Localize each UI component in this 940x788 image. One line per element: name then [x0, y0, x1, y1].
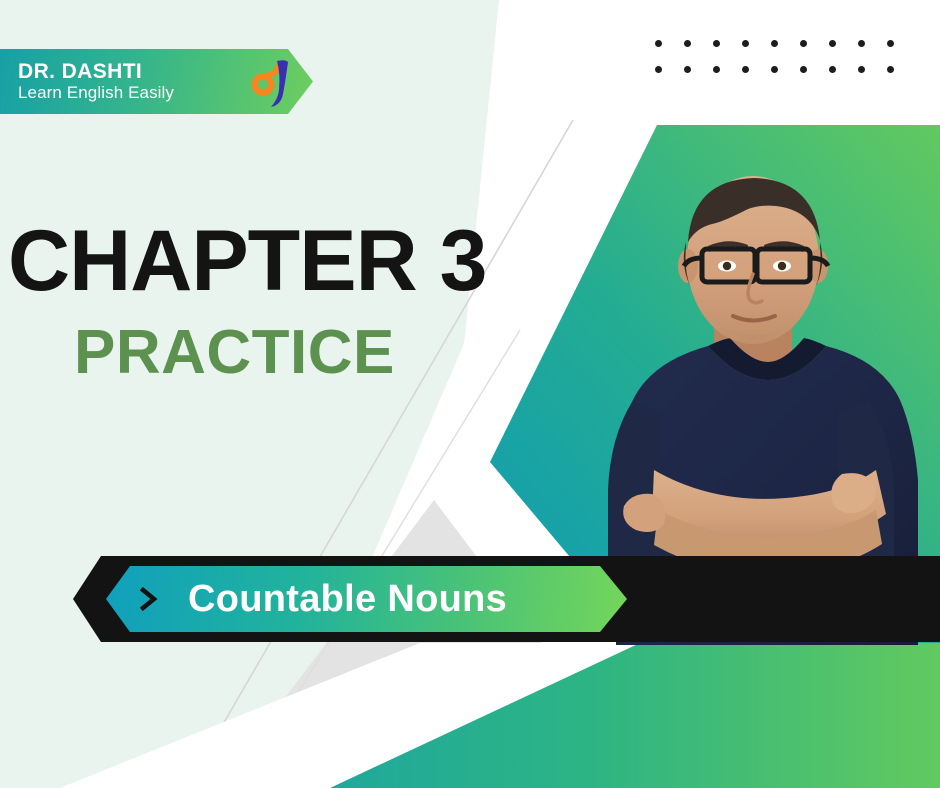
brand-text-block: DR. DASHTI Learn English Easily — [18, 61, 243, 102]
grid-dot — [742, 66, 749, 73]
brand-banner[interactable]: DR. DASHTI Learn English Easily — [0, 49, 313, 114]
grid-dot — [829, 40, 836, 47]
page-title: CHAPTER 3 — [0, 218, 620, 304]
grid-dot — [684, 40, 691, 47]
grid-dot — [800, 66, 807, 73]
brand-tagline: Learn English Easily — [18, 84, 243, 102]
grid-dot — [858, 40, 865, 47]
grid-dot — [713, 40, 720, 47]
dot-grid-decoration — [655, 40, 916, 92]
slide-canvas: DR. DASHTI Learn English Easily — [0, 0, 940, 788]
dashti-monogram-logo-icon — [243, 55, 295, 109]
heading-block: CHAPTER 3 PRACTICE — [0, 218, 620, 384]
topic-banner[interactable]: Countable Nouns — [106, 566, 627, 632]
grid-dot — [771, 66, 778, 73]
chevron-right-icon — [138, 586, 160, 612]
grid-dot — [684, 66, 691, 73]
grid-dot — [829, 66, 836, 73]
grid-dot — [655, 40, 662, 47]
grid-dot — [858, 66, 865, 73]
grid-dot — [655, 66, 662, 73]
grid-dot — [887, 40, 894, 47]
grid-dot — [742, 40, 749, 47]
grid-dot — [887, 66, 894, 73]
topic-label: Countable Nouns — [188, 578, 507, 621]
page-subtitle: PRACTICE — [0, 304, 620, 384]
grid-dot — [800, 40, 807, 47]
grid-dot — [713, 66, 720, 73]
grid-dot — [771, 40, 778, 47]
brand-name: DR. DASHTI — [18, 61, 243, 84]
